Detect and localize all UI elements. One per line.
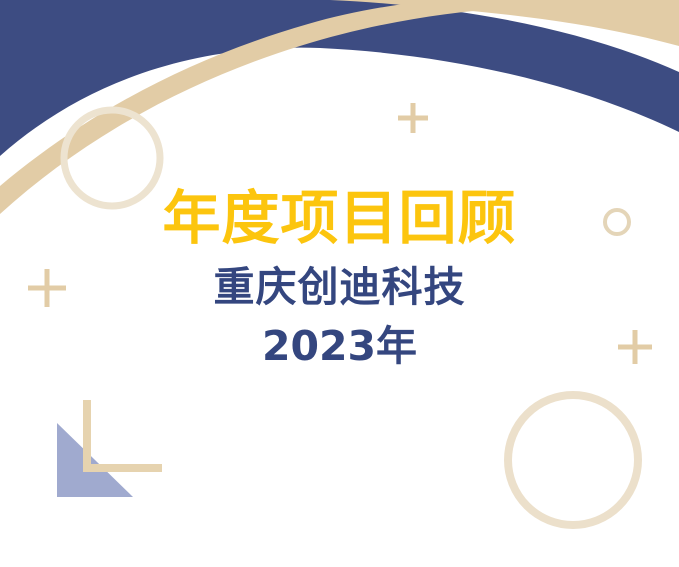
company-name: 重庆创迪科技 (0, 259, 679, 315)
title-block: 年度项目回顾 重庆创迪科技 2023年 (0, 183, 679, 373)
year-label: 2023年 (0, 319, 679, 373)
poster-canvas: 年度项目回顾 重庆创迪科技 2023年 (0, 0, 679, 567)
page-title: 年度项目回顾 (0, 183, 679, 253)
